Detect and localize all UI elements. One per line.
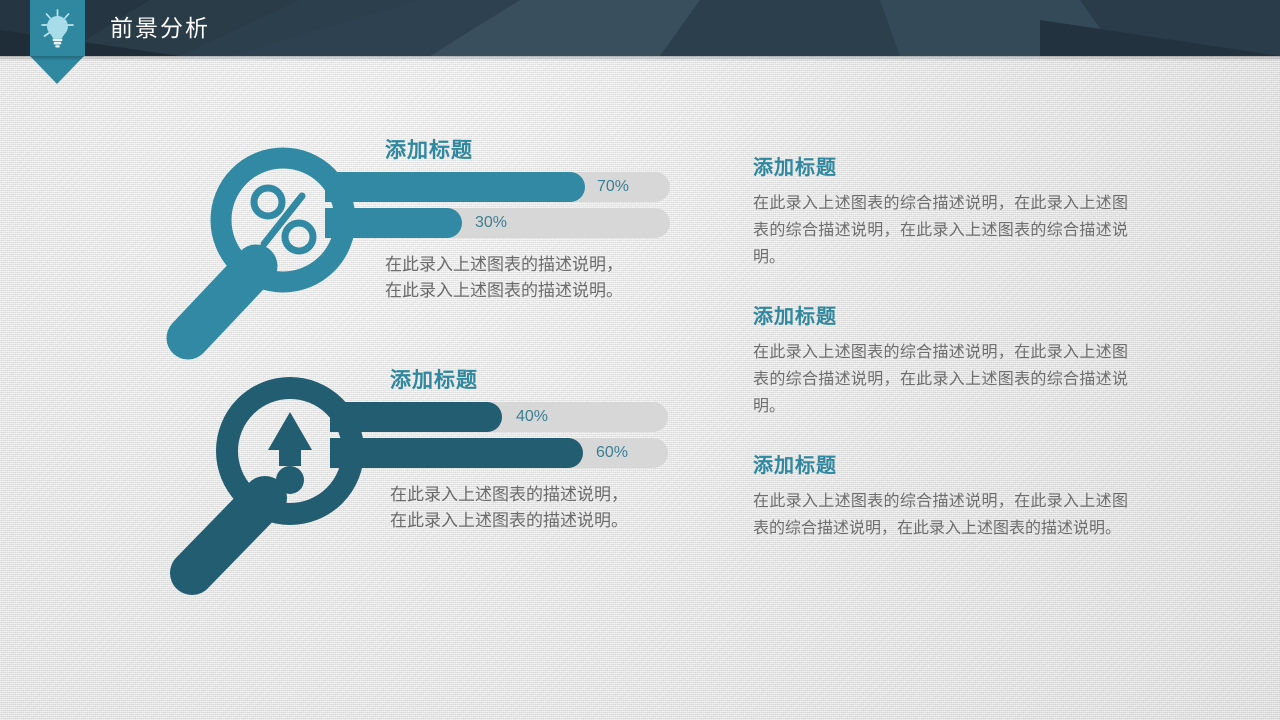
right-block-2-text: 在此录入上述图表的综合描述说明，在此录入上述图表的综合描述说明，在此录入上述图表… [753,339,1128,420]
bar-label-60: 60% [596,438,628,468]
bar-fill-70 [325,172,585,202]
right-block-1-title: 添加标题 [753,156,1128,181]
slide: 前景分析 [0,0,1280,720]
right-block-1: 添加标题 在此录入上述图表的综合描述说明，在此录入上述图表的综合描述说明，在此录… [753,156,1128,271]
lightbulb-icon [36,7,79,49]
right-block-3-title: 添加标题 [753,454,1128,479]
header-shadow [0,56,1280,61]
page-title: 前景分析 [110,0,210,56]
header-badge [30,0,85,56]
bar-label-70: 70% [597,172,629,202]
bar-fill-60 [330,438,583,468]
right-block-3: 添加标题 在此录入上述图表的综合描述说明，在此录入上述图表的综合描述说明，在此录… [753,454,1128,542]
bar-label-40: 40% [516,402,548,432]
right-block-2: 添加标题 在此录入上述图表的综合描述说明，在此录入上述图表的综合描述说明，在此录… [753,305,1128,420]
right-block-2-title: 添加标题 [753,305,1128,330]
slide-content: 添加标题 70% 30% 在此录入上述图表的描述说明， 在此录入上述图表的描述说… [0,56,1280,720]
right-text-column: 添加标题 在此录入上述图表的综合描述说明，在此录入上述图表的综合描述说明，在此录… [753,156,1128,542]
bar-fill-40 [330,402,502,432]
bar-fill-30 [325,208,462,238]
right-block-1-text: 在此录入上述图表的综合描述说明，在此录入上述图表的综合描述说明，在此录入上述图表… [753,190,1128,271]
slide-header: 前景分析 [0,0,1280,56]
percent-icon [254,188,313,251]
right-block-3-text: 在此录入上述图表的综合描述说明，在此录入上述图表的综合描述说明，在此录入上述图表… [753,488,1128,542]
bar-label-30: 30% [475,208,507,238]
